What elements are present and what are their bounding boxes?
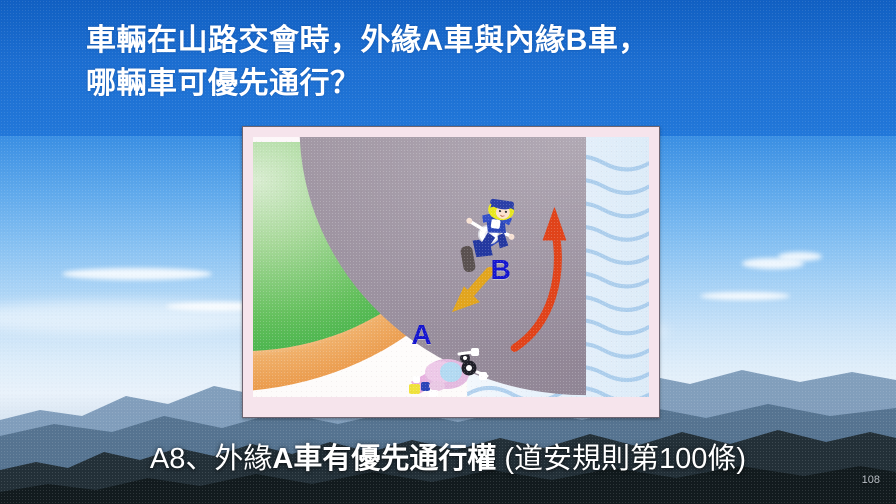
- answer-caption: A8、外緣A車有優先通行權 (道安規則第100條): [0, 444, 896, 476]
- slide-root: 車輛在山路交會時，外緣A車與內緣B車， 哪輛車可優先通行？: [0, 0, 896, 504]
- label-vehicle-a: A: [411, 319, 431, 351]
- illustration-frame: B A: [242, 126, 660, 418]
- page-title: 車輛在山路交會時，外緣A車與內緣B車， 哪輛車可優先通行？: [86, 20, 846, 105]
- caption-part-light: A8、外緣: [150, 443, 272, 475]
- caption-part-tail: (道安規則第100條): [496, 443, 746, 475]
- caption-part-bold: A車有優先通行權: [272, 443, 496, 475]
- label-vehicle-b: B: [491, 254, 511, 286]
- page-number: 108: [862, 474, 880, 486]
- illustration-canvas: B A: [253, 137, 649, 397]
